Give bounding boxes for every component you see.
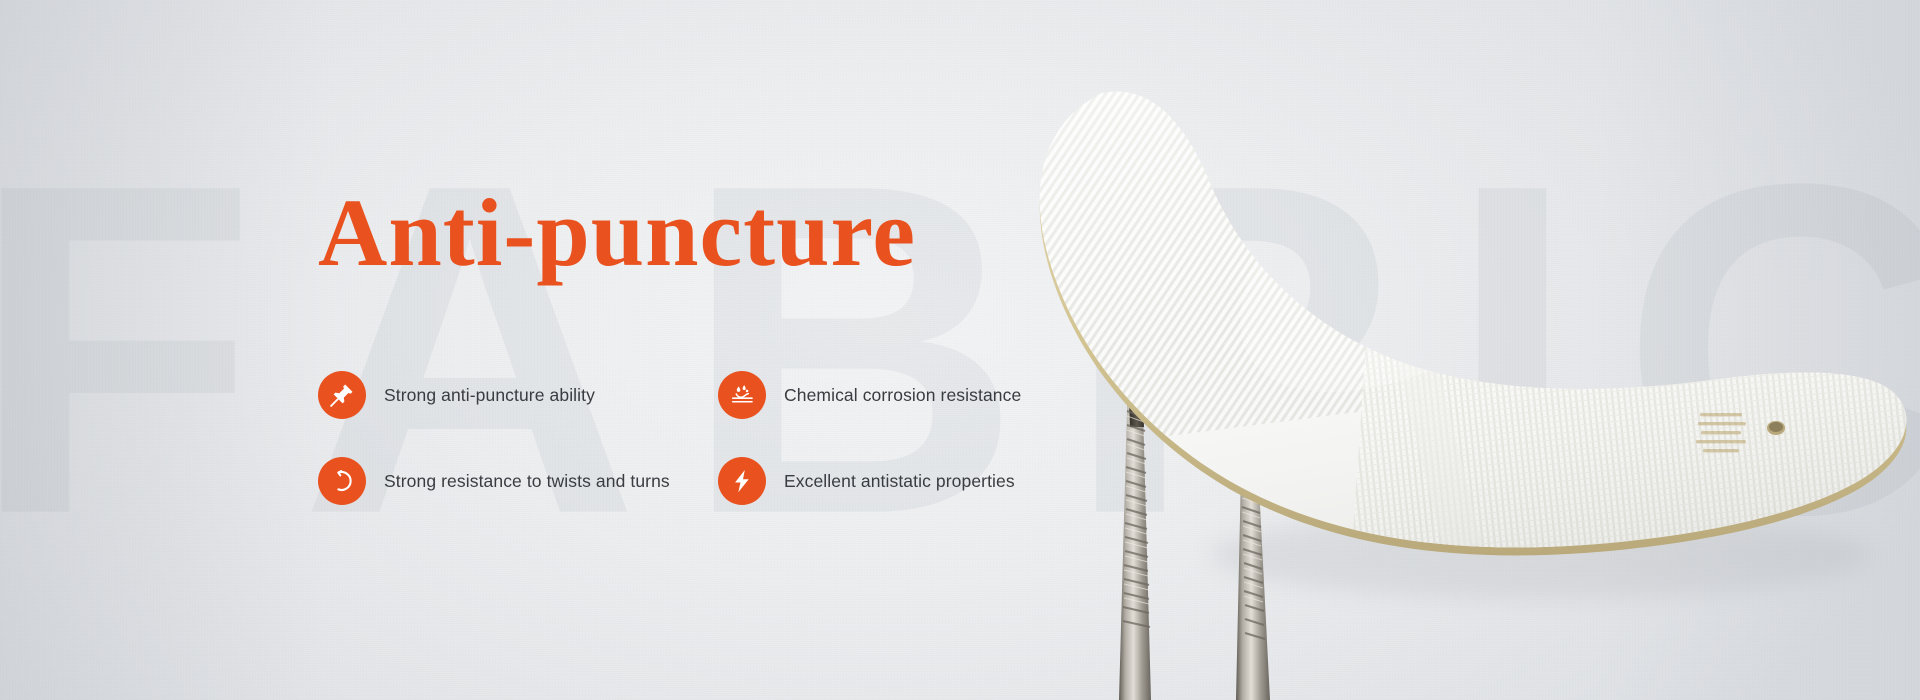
nail-left <box>1119 373 1151 700</box>
insole-and-nails-illustration <box>1020 55 1920 700</box>
feature-item-antistatic[interactable]: Excellent antistatic properties <box>718 438 1118 524</box>
spiral-shank-nails <box>1119 373 1270 700</box>
watermark-letter-c: C <box>1621 153 1920 548</box>
insole-face <box>1040 92 1907 548</box>
watermark-letter-i: I <box>1447 153 1568 548</box>
feature-label: Strong resistance to twists and turns <box>384 471 670 492</box>
anti-puncture-hero-banner: F A B R I C <box>0 0 1920 700</box>
page-title: Anti-puncture <box>318 185 916 281</box>
gold-stamp-marking <box>1696 413 1746 452</box>
edge-vignette <box>0 0 1920 700</box>
insole-eyelet-hole <box>1767 421 1785 435</box>
feature-label: Chemical corrosion resistance <box>784 385 1021 406</box>
lightning-bolt-icon <box>718 457 766 505</box>
pushpin-icon <box>318 371 366 419</box>
feature-list: Strong anti-puncture ability Chemical co… <box>318 352 1038 524</box>
feature-label: Excellent antistatic properties <box>784 471 1015 492</box>
insole-tan-edge <box>1040 100 1907 556</box>
feature-label: Strong anti-puncture ability <box>384 385 595 406</box>
chemical-droplet-icon <box>718 371 766 419</box>
product-photo <box>1020 55 1920 700</box>
feature-item-twist-resistance[interactable]: Strong resistance to twists and turns <box>318 438 718 524</box>
paper-grain-overlay <box>0 0 1920 700</box>
feature-item-chemical-corrosion[interactable]: Chemical corrosion resistance <box>718 352 1118 438</box>
watermark-letter-f: F <box>0 153 247 548</box>
woven-fabric-insole <box>1020 55 1920 700</box>
rotate-twist-icon <box>318 457 366 505</box>
nail-right <box>1236 427 1270 700</box>
feature-item-anti-puncture[interactable]: Strong anti-puncture ability <box>318 352 718 438</box>
insole-shadow <box>1210 511 1870 599</box>
